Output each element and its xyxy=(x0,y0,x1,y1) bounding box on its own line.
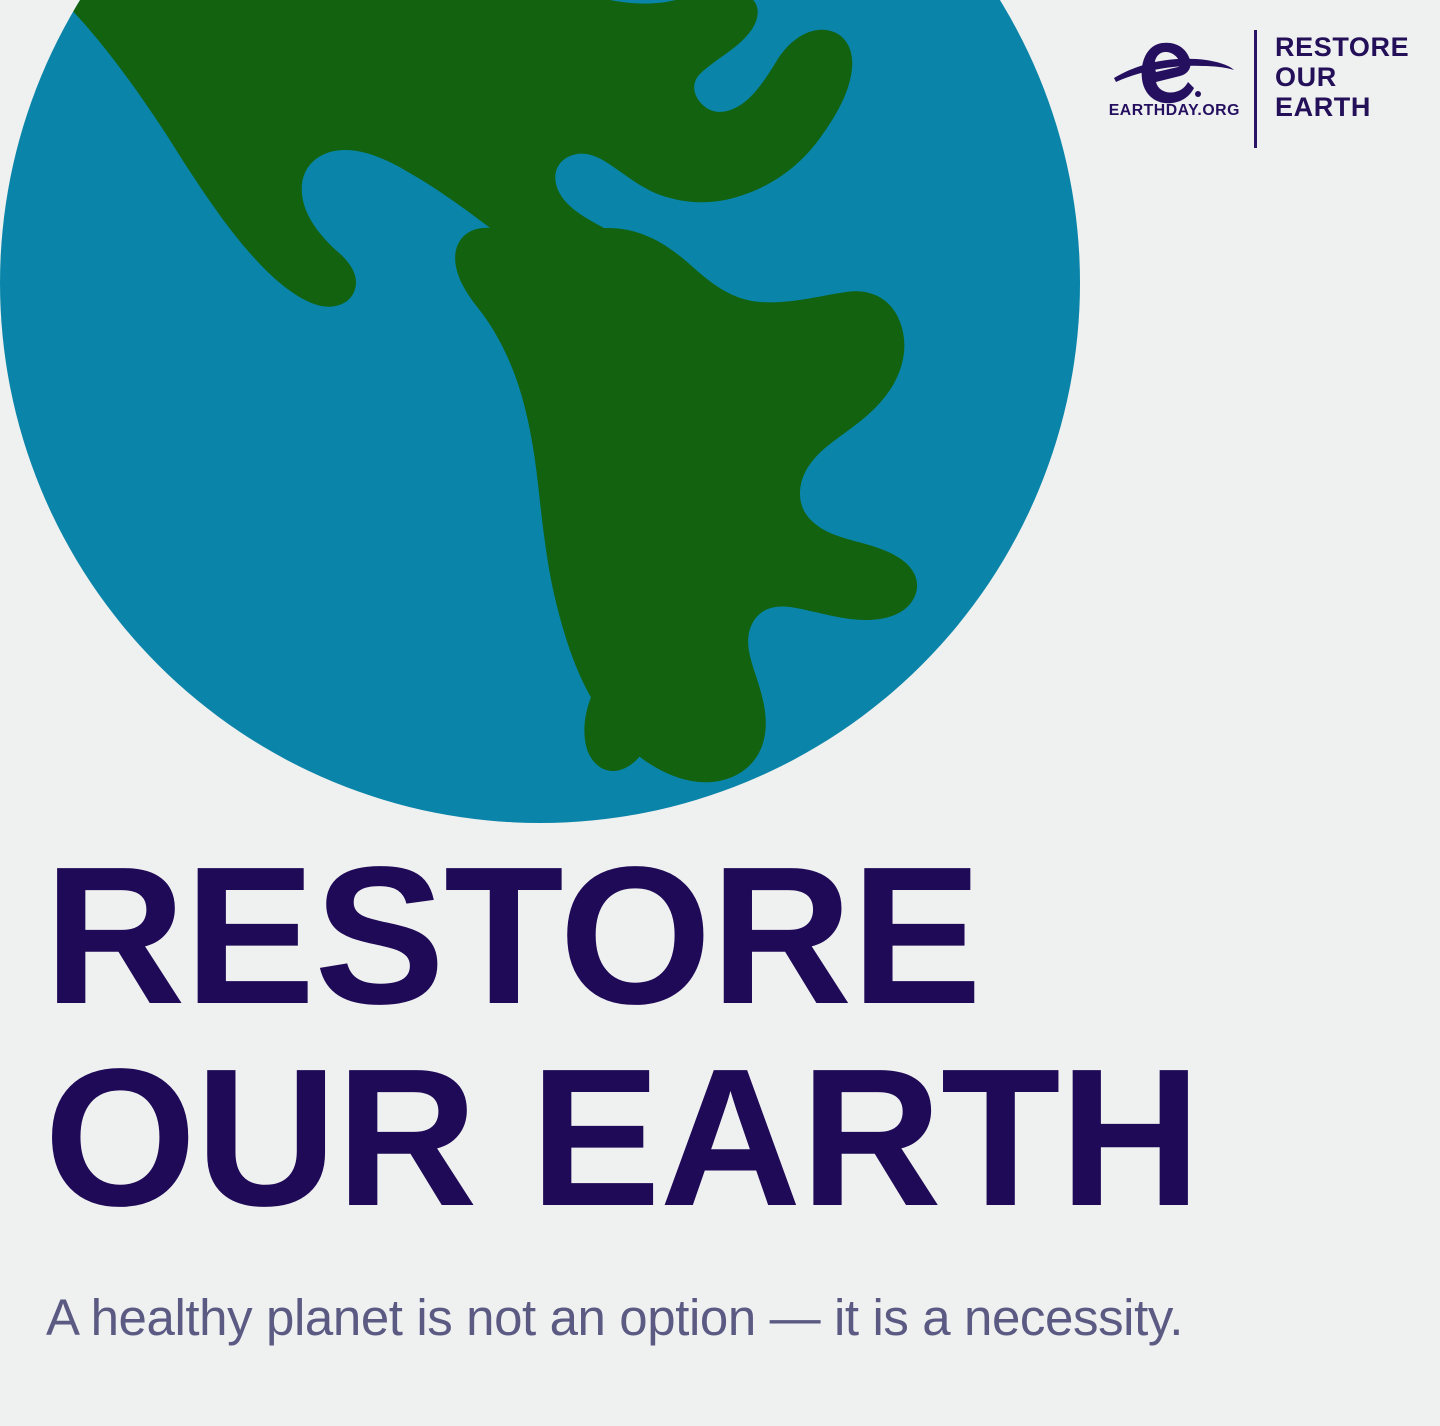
globe-ocean xyxy=(0,0,1080,823)
headline-block: RESTORE OUR EARTH xyxy=(44,846,1384,1229)
logo-tagline-line-2: OUR xyxy=(1275,62,1409,92)
south-america-landmass xyxy=(455,228,917,783)
north-america-landmass xyxy=(0,0,852,312)
logo-tagline-line-1: RESTORE xyxy=(1275,32,1409,62)
earthday-logo-lockup[interactable]: EARTHDAY.ORG RESTORE OUR EARTH xyxy=(1108,28,1409,148)
poster-tagline: A healthy planet is not an option — it i… xyxy=(46,1290,1406,1346)
logo-tagline-text: RESTORE OUR EARTH xyxy=(1275,28,1409,148)
earth-day-poster: EARTHDAY.ORG RESTORE OUR EARTH RESTORE O… xyxy=(0,0,1440,1426)
headline-line-restore: RESTORE xyxy=(44,846,1384,1026)
logo-tagline-line-3: EARTH xyxy=(1275,92,1409,122)
patagonia-tip xyxy=(584,668,656,771)
logo-divider xyxy=(1254,30,1257,148)
earthday-url-text: EARTHDAY.ORG xyxy=(1108,102,1239,120)
headline-line-our-earth: OUR EARTH xyxy=(44,1048,1384,1228)
earthday-logo-mark[interactable]: EARTHDAY.ORG xyxy=(1108,28,1240,148)
earthday-e-icon xyxy=(1112,34,1236,106)
florida-peninsula xyxy=(464,143,521,214)
